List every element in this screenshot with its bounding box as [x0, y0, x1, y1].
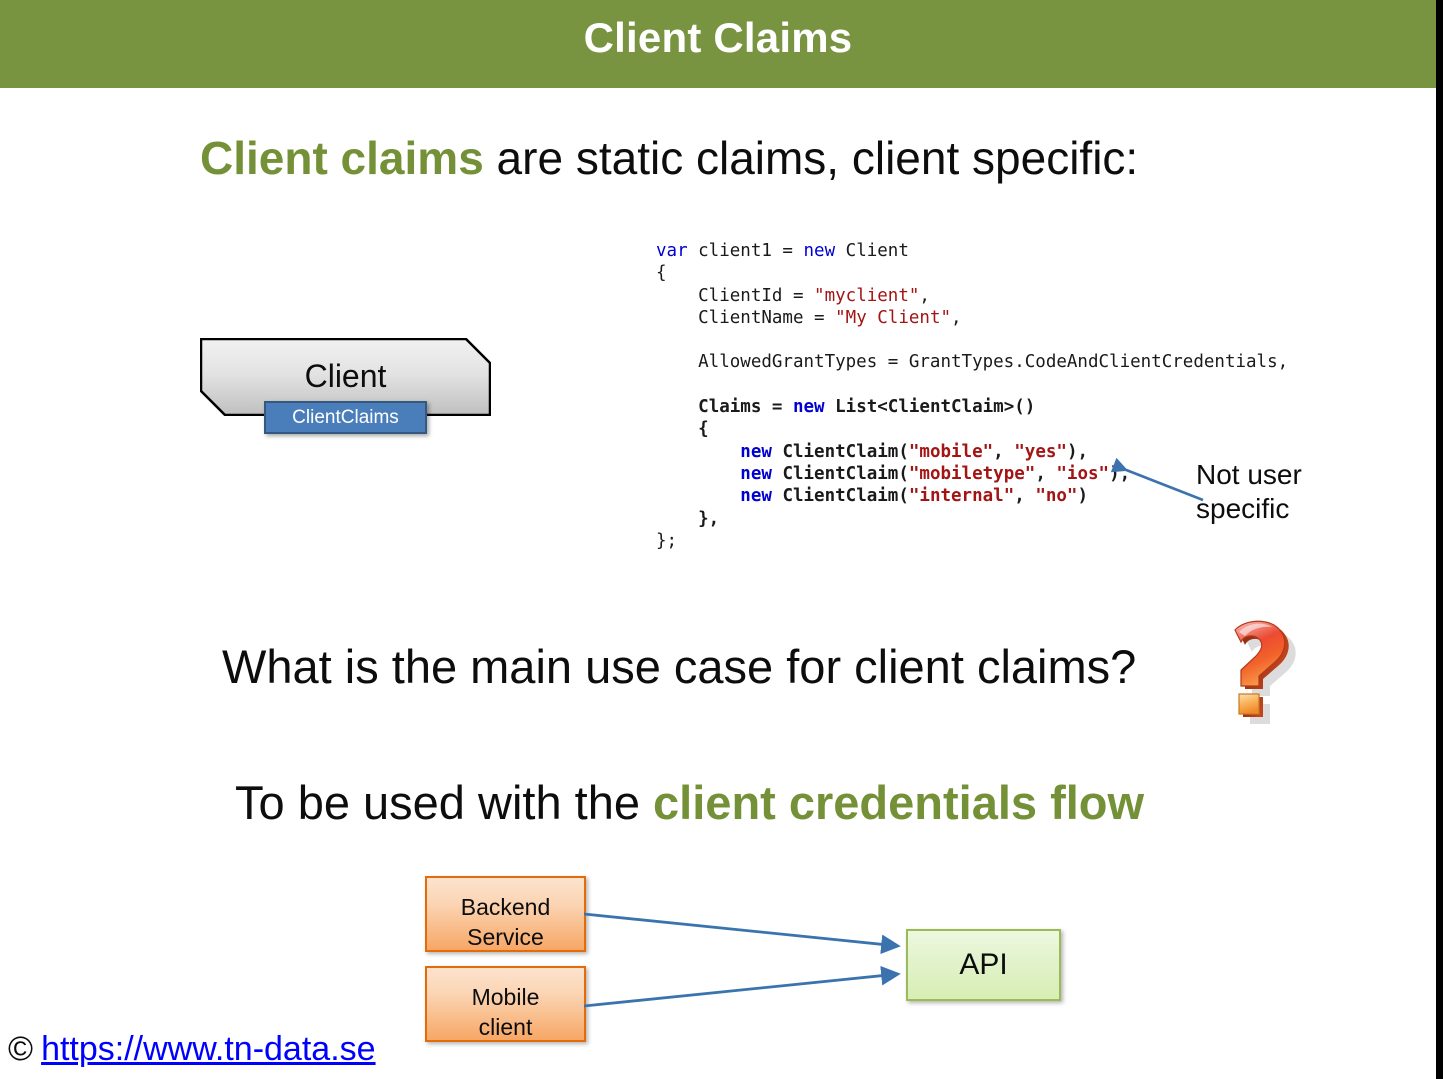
usecase-prefix: To be used with the — [235, 776, 653, 829]
headline-accent-text: Client claims — [200, 132, 484, 184]
headline-rest-text: are static claims, client specific: — [484, 132, 1138, 184]
slide: Client Claims Client claims are static c… — [0, 0, 1443, 1079]
mobile-line-1: Mobile — [427, 982, 584, 1012]
annotation-line-1: Not user — [1196, 458, 1302, 492]
usecase-text: To be used with the client credentials f… — [235, 775, 1144, 830]
backend-line-1: Backend — [427, 892, 584, 922]
copyright-symbol: © — [8, 1030, 33, 1068]
clientclaims-badge: ClientClaims — [264, 401, 427, 434]
backend-line-2: Service — [427, 922, 584, 952]
flow-arrows-icon — [580, 900, 915, 1020]
question-text: What is the main use case for client cla… — [222, 639, 1136, 694]
mobile-line-2: client — [427, 1012, 584, 1042]
footer: ©https://www.tn-data.se — [8, 1030, 376, 1069]
code-snippet: var client1 = new Client { ClientId = "m… — [656, 240, 1288, 552]
flow-box-mobile-client: Mobile client — [425, 966, 586, 1042]
flow-box-backend-service: Backend Service — [425, 876, 586, 952]
client-shape-label: Client — [200, 358, 491, 395]
footer-url-link[interactable]: https://www.tn-data.se — [41, 1030, 376, 1068]
usecase-accent: client credentials flow — [653, 776, 1144, 829]
flow-box-api: API — [906, 929, 1061, 1001]
headline-client-claims: Client claims are static claims, client … — [200, 131, 1138, 185]
annotation-line-2: specific — [1196, 492, 1302, 526]
question-mark-3d-icon — [1208, 618, 1316, 730]
slide-title-bar: Client Claims — [0, 0, 1436, 88]
page-title: Client Claims — [0, 14, 1436, 62]
annotation-not-user-specific: Not user specific — [1196, 458, 1302, 526]
annotation-arrow-icon — [1100, 455, 1210, 505]
